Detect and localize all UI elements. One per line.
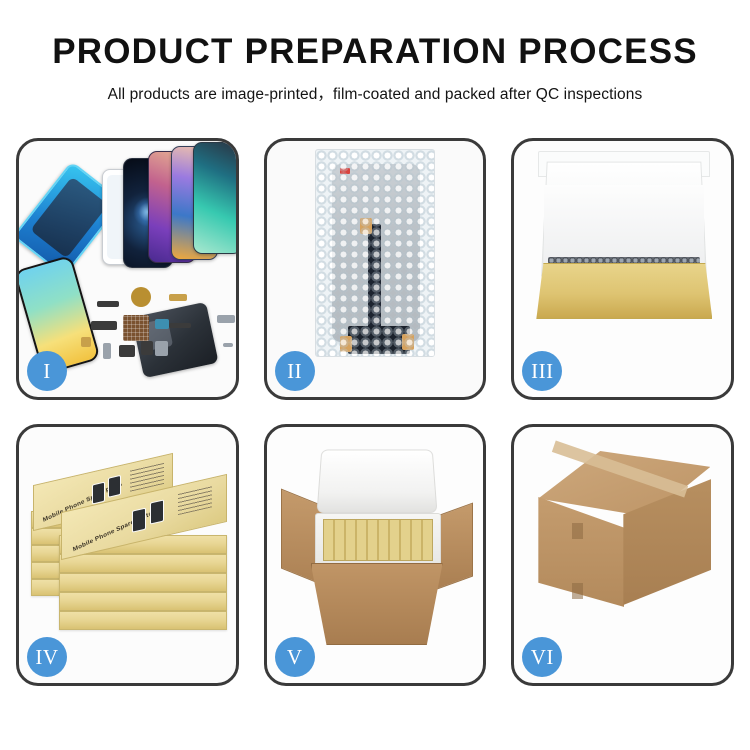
box-phone-art-b1 <box>92 482 105 505</box>
step-panel-2[interactable]: II <box>264 138 487 400</box>
box-foam-sheet-image <box>544 185 704 265</box>
part-chip-grid-icon <box>123 315 149 341</box>
stacked-box-r5 <box>59 611 227 630</box>
part-button-module-icon <box>119 345 135 357</box>
foam-lid-image <box>316 450 437 514</box>
part-flex-cable-icon <box>91 321 117 330</box>
header: PRODUCT PREPARATION PROCESS All products… <box>0 0 750 104</box>
step-panel-5[interactable]: V <box>264 424 487 686</box>
part-speaker-icon <box>97 301 119 307</box>
steps-grid: I II <box>16 138 734 686</box>
step-badge-2: II <box>275 351 315 391</box>
stacked-box-r4 <box>59 592 227 611</box>
carton-seam-lower <box>572 583 583 599</box>
bubble-wrap-bag-image <box>315 149 435 357</box>
page-subtitle: All products are image-printed，film-coat… <box>0 82 750 104</box>
part-screwdriver-icon <box>223 343 233 347</box>
stacked-box-r2 <box>59 554 227 573</box>
gold-boxes-inside-image <box>323 519 433 561</box>
part-tool-tweezers-icon <box>217 315 235 323</box>
part-camera-lens-icon <box>131 287 151 307</box>
step-badge-4: IV <box>27 637 67 677</box>
box-phone-art-b2 <box>108 475 121 498</box>
step-badge-5: V <box>275 637 315 677</box>
carton-seam-upper <box>572 523 583 539</box>
part-connector-icon <box>155 319 169 329</box>
carton-body-image <box>311 563 443 645</box>
box-spec-lines-front <box>178 485 212 515</box>
bubble-texture-overlay <box>316 150 434 356</box>
step-panel-4[interactable]: Mobile Phone Spare Parts Mobile Phone Sp… <box>16 424 239 686</box>
page-title: PRODUCT PREPARATION PROCESS <box>0 34 750 71</box>
box-phone-art-f1 <box>132 508 146 533</box>
part-vibrator-icon <box>141 341 153 355</box>
part-antenna-strip-icon <box>169 323 191 328</box>
part-flex-gold-icon <box>169 294 187 301</box>
infographic-page: PRODUCT PREPARATION PROCESS All products… <box>0 0 750 750</box>
part-screw-icon <box>81 337 91 347</box>
step-panel-3[interactable]: III <box>511 138 734 400</box>
step-badge-1: I <box>27 351 67 391</box>
yellow-box-tray-image <box>536 263 712 319</box>
step-panel-1[interactable]: I <box>16 138 239 400</box>
box-spec-lines-back <box>130 462 164 492</box>
part-battery-icon <box>103 343 111 359</box>
part-sim-tray-icon <box>155 341 168 356</box>
step-panel-6[interactable]: VI <box>511 424 734 686</box>
phone-teal-screen-image <box>193 142 236 254</box>
stacked-box-r3 <box>59 573 227 592</box>
box-phone-art-f2 <box>150 499 164 524</box>
